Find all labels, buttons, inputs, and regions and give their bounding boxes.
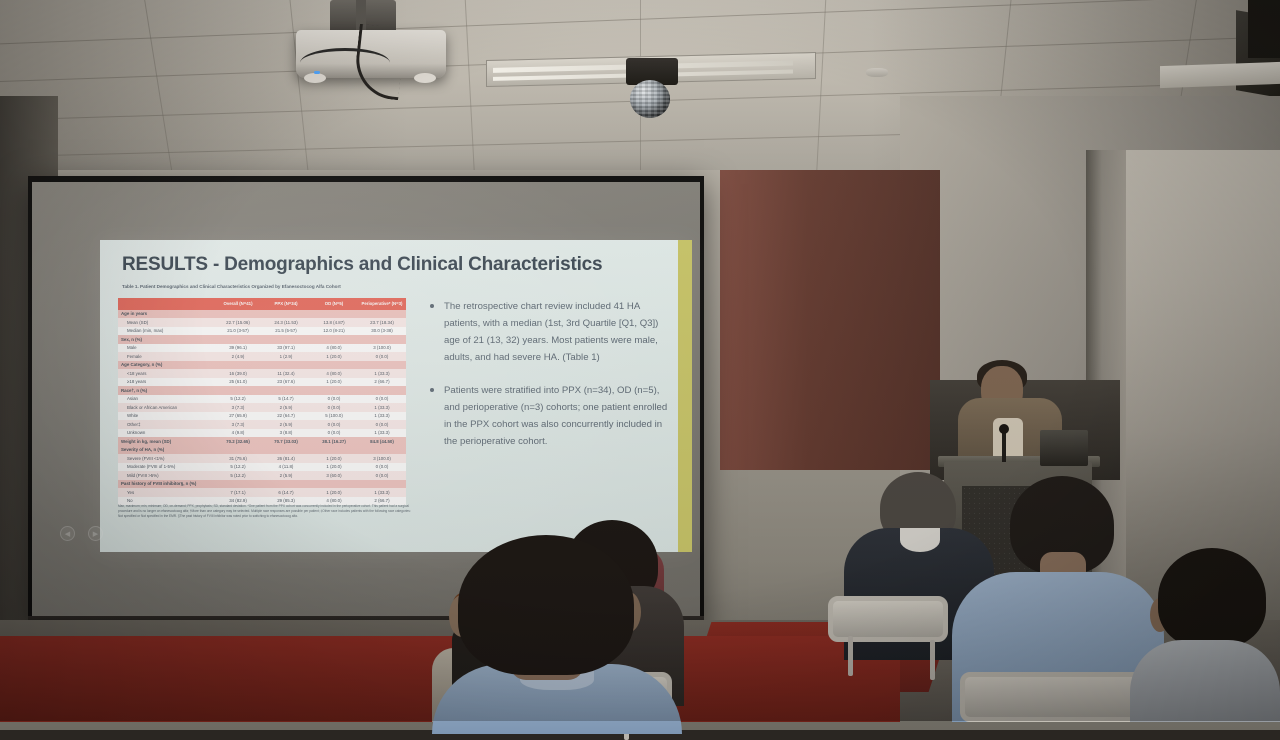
bullet-dot-icon <box>430 388 434 392</box>
table-row-label: <18 years <box>118 369 214 378</box>
slide-bullet: Patients were stratified into PPX (n=34)… <box>430 382 668 450</box>
table-cell: 2 (4.9) <box>214 352 262 361</box>
table-cell: 12.0 (8-21) <box>310 327 358 336</box>
table-cell <box>214 386 262 395</box>
smoke-detector-icon <box>866 68 888 77</box>
ceiling-dark-panel <box>1248 0 1280 58</box>
table-cell: 0 (0.0) <box>310 403 358 412</box>
table-row-label: White <box>118 412 214 421</box>
table-cell <box>310 335 358 344</box>
microphone-icon <box>999 424 1009 434</box>
table-cell: 4 (9.8) <box>214 429 262 438</box>
table-cell: 1 (20.0) <box>310 463 358 472</box>
slide-next-icon[interactable]: ▶ <box>88 526 103 541</box>
table-cell <box>262 480 310 489</box>
slide-nav-controls[interactable]: ◀ ▶ <box>60 526 103 541</box>
table-cell: 0 (0.0) <box>358 471 406 480</box>
table-cell: 0 (0.0) <box>358 420 406 429</box>
slide-title: RESULTS - Demographics and Clinical Char… <box>122 254 662 276</box>
table-cell: 5 (100.0) <box>310 412 358 421</box>
chair-back <box>960 672 1150 722</box>
podium-monitor <box>1040 430 1088 466</box>
table-row: White27 (65.9)22 (64.7)5 (100.0)1 (33.3) <box>118 412 406 421</box>
table-cell: 26 (81.4) <box>262 454 310 463</box>
table-cell: 70.7 (33.03) <box>262 437 310 446</box>
table-cell <box>310 386 358 395</box>
table-row: Other‡3 (7.3)2 (5.9)0 (0.0)0 (0.0) <box>118 420 406 429</box>
table-col-header-3: OD (N=5) <box>310 298 358 310</box>
table-cell: 70.2 (32.65) <box>214 437 262 446</box>
table-row: Asian5 (12.2)5 (14.7)0 (0.0)0 (0.0) <box>118 395 406 404</box>
table-cell: 1 (20.0) <box>310 454 358 463</box>
table-cell: 4 (80.0) <box>310 369 358 378</box>
table-row-label: Sex, n (%) <box>118 335 214 344</box>
table-cell <box>262 335 310 344</box>
table-cell: 27 (65.9) <box>214 412 262 421</box>
chair-leg <box>930 640 935 680</box>
table-row: Moderate (FVIII of 1-5%)5 (12.2)4 (11.8)… <box>118 463 406 472</box>
table-body: Age in yearsMean (SD)22.7 (15.06)24.3 (1… <box>118 310 406 506</box>
table-row-label: Weight in kg, mean (SD) <box>118 437 214 446</box>
table-row-label: Female <box>118 352 214 361</box>
table-cell: 22 (64.7) <box>262 412 310 421</box>
table-row: Past history of FVIII inhibitor§, n (%) <box>118 480 406 489</box>
table-cell: 3 (60.0) <box>310 471 358 480</box>
table-row-label: Male <box>118 344 214 353</box>
audience-body-far-right <box>1130 640 1280 722</box>
chair-back <box>828 596 948 642</box>
table-row: <18 years16 (39.0)11 (32.4)4 (80.0)1 (33… <box>118 369 406 378</box>
table-cell: 5 (12.2) <box>214 463 262 472</box>
table-row-label: Unknown <box>118 429 214 438</box>
table-cell: 1 (33.3) <box>358 412 406 421</box>
table-row-label: Race†, n (%) <box>118 386 214 395</box>
table-row-label: Median (min, max) <box>118 327 214 336</box>
table-cell: 24.3 (11.53) <box>262 318 310 327</box>
table-row: Age Category, n (%) <box>118 361 406 370</box>
audience-foreground-head <box>458 535 634 675</box>
table-cell <box>262 446 310 455</box>
table-cell <box>214 446 262 455</box>
table-cell: 1 (2.9) <box>262 352 310 361</box>
table-cell: 22.7 (15.06) <box>214 318 262 327</box>
table-row-label: Yes <box>118 488 214 497</box>
table-cell <box>214 335 262 344</box>
table-cell: 3 (7.3) <box>214 420 262 429</box>
table-row: Weight in kg, mean (SD)70.2 (32.65)70.7 … <box>118 437 406 446</box>
table-cell <box>358 310 406 319</box>
table-cell: 3 (100.0) <box>358 344 406 353</box>
ceiling-light-strip-right-icon <box>1160 62 1280 88</box>
bullet-text: The retrospective chart review included … <box>444 301 658 363</box>
table-col-header-2: PPX (N=34) <box>262 298 310 310</box>
table-cell <box>214 480 262 489</box>
table-cell: 5 (14.7) <box>262 395 310 404</box>
table-row: Age in years <box>118 310 406 319</box>
table-row: Severity of HA, n (%) <box>118 446 406 455</box>
table-cell <box>358 480 406 489</box>
table-cell: 30.0 (3-38) <box>358 327 406 336</box>
table-cell <box>214 310 262 319</box>
table-cell <box>310 446 358 455</box>
table-row-label: Age Category, n (%) <box>118 361 214 370</box>
table-cell: 1 (33.3) <box>358 403 406 412</box>
table-cell: 2 (5.9) <box>262 420 310 429</box>
table-row: Yes7 (17.1)6 (14.7)1 (20.0)1 (33.3) <box>118 488 406 497</box>
table-cell <box>358 446 406 455</box>
table-cell: 16 (39.0) <box>214 369 262 378</box>
table-row: Median (min, max)21.0 (3-57)21.5 (5-57)1… <box>118 327 406 336</box>
audience-collar-suit <box>900 528 940 552</box>
table-row-label: Mild (FVIII >5%) <box>118 471 214 480</box>
table-head: Overall (N=41) PPX (N=34) OD (N=5) Perio… <box>118 298 406 310</box>
table-cell: 1 (33.3) <box>358 488 406 497</box>
table-cell: 2 (5.9) <box>262 471 310 480</box>
table-cell: 0 (0.0) <box>310 420 358 429</box>
table-cell: 6 (14.7) <box>262 488 310 497</box>
table-row: Black or African American3 (7.3)2 (5.9)0… <box>118 403 406 412</box>
microphone-stem <box>1002 432 1006 462</box>
table-cell: 7 (17.1) <box>214 488 262 497</box>
table-footnote: Max, maximum; min, minimum; OD, on-deman… <box>118 504 413 519</box>
table-row-label: Mean (SD) <box>118 318 214 327</box>
audience-head-far-right <box>1158 548 1266 648</box>
bullet-dot-icon <box>430 304 434 308</box>
table-cell: 1 (20.0) <box>310 352 358 361</box>
table-cell: 4 (80.0) <box>310 344 358 353</box>
table-row-label: Past history of FVIII inhibitor§, n (%) <box>118 480 214 489</box>
slide-prev-icon[interactable]: ◀ <box>60 526 75 541</box>
table-cell <box>262 386 310 395</box>
table-cell: 3 (7.3) <box>214 403 262 412</box>
table-cell: 21.5 (5-57) <box>262 327 310 336</box>
table-row-label: ≥18 years <box>118 378 214 387</box>
table-cell: 11 (32.4) <box>262 369 310 378</box>
projector-cable-loop <box>300 48 390 78</box>
table-cell: 84.8 (44.50) <box>358 437 406 446</box>
table-cell <box>262 361 310 370</box>
table-cell: 21.0 (3-57) <box>214 327 262 336</box>
table-cell: 0 (0.0) <box>358 395 406 404</box>
table-cell: 39 (96.1) <box>214 344 262 353</box>
table-cell: 0 (0.0) <box>358 352 406 361</box>
table-cell <box>358 386 406 395</box>
chair-leg <box>848 636 853 676</box>
table-row-label: Black or African American <box>118 403 214 412</box>
table-cell: 23.7 (18.34) <box>358 318 406 327</box>
table-cell: 1 (20.0) <box>310 488 358 497</box>
table-row-label: Other‡ <box>118 420 214 429</box>
table-cell: 3 (100.0) <box>358 454 406 463</box>
table-cell: 1 (33.3) <box>358 369 406 378</box>
table-cell: 23 (67.6) <box>262 378 310 387</box>
table-cell: 3 (8.8) <box>262 429 310 438</box>
table-cell <box>262 310 310 319</box>
table-cell: 4 (11.8) <box>262 463 310 472</box>
disco-ball-icon <box>630 80 670 118</box>
table-cell: 2 (5.9) <box>262 403 310 412</box>
table-col-header-0 <box>118 298 214 310</box>
table-row: Unknown4 (9.8)3 (8.8)0 (0.0)1 (33.3) <box>118 429 406 438</box>
table-cell: 0 (0.0) <box>310 395 358 404</box>
table-row: Race†, n (%) <box>118 386 406 395</box>
table-cell: 5 (12.2) <box>214 471 262 480</box>
slide-bullet-list: The retrospective chart review included … <box>430 298 668 467</box>
table-cell: 5 (12.2) <box>214 395 262 404</box>
table-col-header-4: Perioperative* (N=3) <box>358 298 406 310</box>
table-cell: 33 (97.1) <box>262 344 310 353</box>
table-row: Sex, n (%) <box>118 335 406 344</box>
table-cell: 13.8 (4.87) <box>310 318 358 327</box>
table-header-row: Overall (N=41) PPX (N=34) OD (N=5) Perio… <box>118 298 406 310</box>
table-cell <box>358 361 406 370</box>
presentation-slide: RESULTS - Demographics and Clinical Char… <box>100 240 692 552</box>
table-row: Severe (FVIII <1%)31 (75.6)26 (81.4)1 (2… <box>118 454 406 463</box>
table-row-label: Severe (FVIII <1%) <box>118 454 214 463</box>
table-cell: 2 (66.7) <box>358 378 406 387</box>
table-cell: 31 (75.6) <box>214 454 262 463</box>
bullet-text: Patients were stratified into PPX (n=34)… <box>444 385 667 447</box>
table-row-label: Asian <box>118 395 214 404</box>
table-row: Female2 (4.9)1 (2.9)1 (20.0)0 (0.0) <box>118 352 406 361</box>
table-col-header-1: Overall (N=41) <box>214 298 262 310</box>
demographics-table: Overall (N=41) PPX (N=34) OD (N=5) Perio… <box>118 298 406 505</box>
table-cell: 1 (20.0) <box>310 378 358 387</box>
slide-accent-stripe <box>678 240 692 552</box>
table-cell: 0 (0.0) <box>358 463 406 472</box>
table-row-label: Severity of HA, n (%) <box>118 446 214 455</box>
table-row: Mean (SD)22.7 (15.06)24.3 (11.53)13.8 (4… <box>118 318 406 327</box>
table-cell <box>310 480 358 489</box>
table-row: Male39 (96.1)33 (97.1)4 (80.0)3 (100.0) <box>118 344 406 353</box>
table-row-label: Age in years <box>118 310 214 319</box>
slide-bullet: The retrospective chart review included … <box>430 298 668 366</box>
table-cell <box>310 310 358 319</box>
table-cell <box>310 361 358 370</box>
table-row: Mild (FVIII >5%)5 (12.2)2 (5.9)3 (60.0)0… <box>118 471 406 480</box>
table-row: ≥18 years25 (61.0)23 (67.6)1 (20.0)2 (66… <box>118 378 406 387</box>
table-cell: 0 (0.0) <box>310 429 358 438</box>
table-cell <box>214 361 262 370</box>
table-cell <box>358 335 406 344</box>
table-caption: Table 1. Patient Demographics and Clinic… <box>122 284 402 291</box>
table-row-label: Moderate (FVIII of 1-5%) <box>118 463 214 472</box>
table-cell: 1 (33.3) <box>358 429 406 438</box>
stage-drape <box>720 170 940 470</box>
table-cell: 38.1 (16.27) <box>310 437 358 446</box>
lecture-hall-scene: RESULTS - Demographics and Clinical Char… <box>0 0 1280 721</box>
table-cell: 25 (61.0) <box>214 378 262 387</box>
